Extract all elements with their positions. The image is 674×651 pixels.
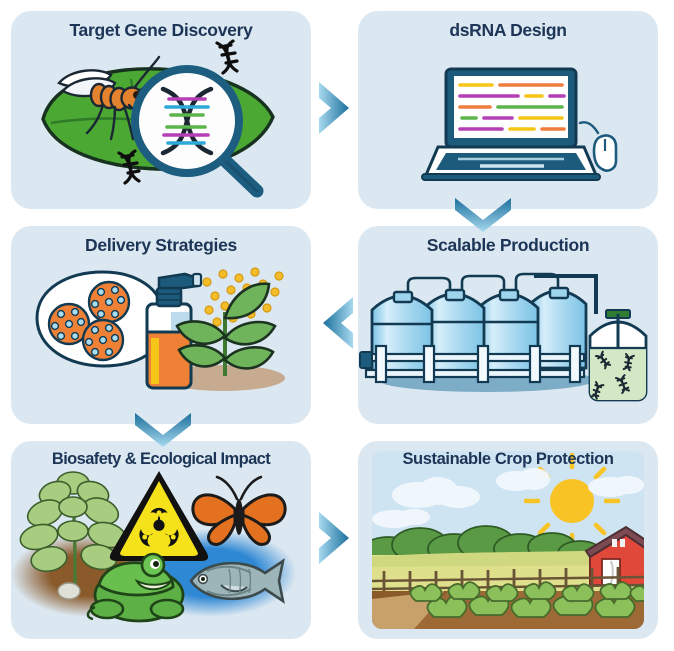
panel-target-gene-discovery[interactable]: Target Gene Discovery (11, 11, 311, 209)
laptop-icon (422, 69, 600, 180)
panel-title-dsrna-design: dsRNA Design (358, 20, 658, 41)
panel-title-delivery-strategies: Delivery Strategies (11, 235, 311, 256)
art-biosafety-ecological-impact (11, 441, 311, 639)
panel-sustainable-crop-protection[interactable]: Sustainable Crop Protection (358, 441, 658, 639)
seedling-plant-icon (177, 284, 275, 376)
panel-title-sustainable-crop-protection: Sustainable Crop Protection (358, 450, 658, 469)
panel-biosafety-ecological-impact[interactable]: Biosafety & Ecological Impact (11, 441, 311, 639)
bioreactor-tanks-icon (360, 288, 586, 382)
arrow-right-1 (315, 78, 357, 138)
panel-title-scalable-production: Scalable Production (358, 235, 658, 256)
panel-title-biosafety-ecological-impact: Biosafety & Ecological Impact (11, 450, 311, 469)
arrow-right-5 (315, 508, 357, 568)
arrow-down-2 (452, 196, 514, 234)
panel-scalable-production[interactable]: Scalable Production (358, 226, 658, 424)
arrow-down-4 (132, 411, 194, 449)
panel-dsrna-design[interactable]: dsRNA Design (358, 11, 658, 209)
collection-vessel-icon (589, 310, 647, 400)
panel-delivery-strategies[interactable]: Delivery Strategies (11, 226, 311, 424)
process-flow-diagram: Target Gene Discovery (0, 0, 674, 651)
art-sustainable-crop-protection (358, 441, 658, 639)
arrow-left-3 (315, 293, 357, 353)
panel-title-target-gene-discovery: Target Gene Discovery (11, 20, 311, 41)
